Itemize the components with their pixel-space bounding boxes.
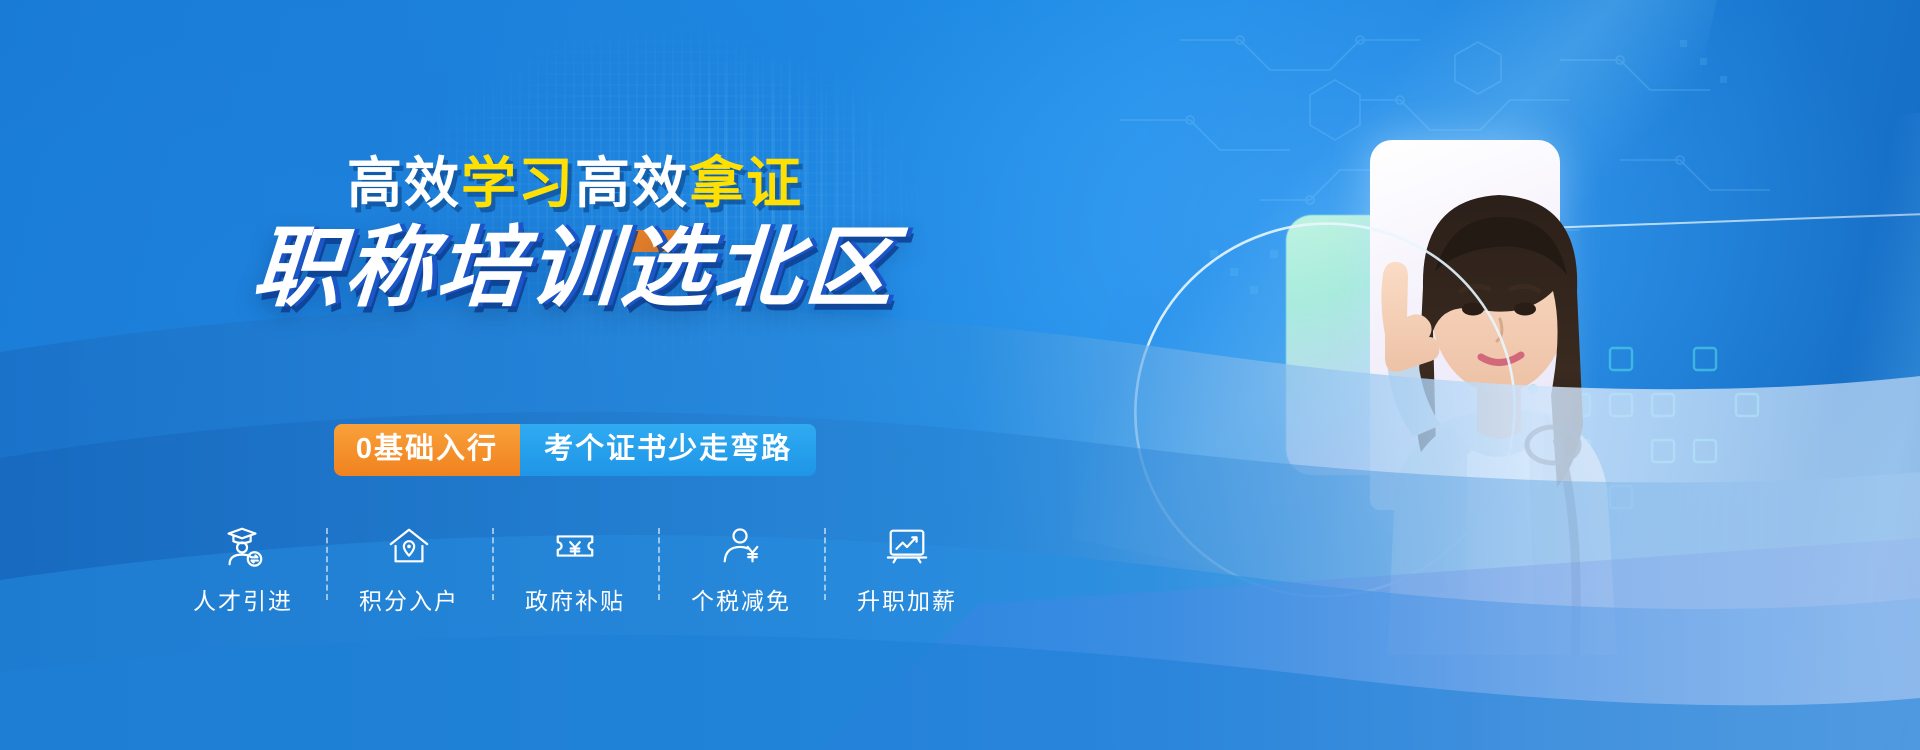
sub-headline-seg-4: 拿证: [689, 152, 803, 214]
main-headline: 职称培训选北区: [0, 224, 1153, 312]
sub-headline-seg-1: 高效: [347, 152, 461, 214]
feature-item-subsidy[interactable]: 政府补贴: [492, 522, 658, 616]
feature-list: 人才引进 积分入户: [0, 522, 1150, 616]
coupon-yuan-icon: [552, 522, 598, 570]
copy-block: 高效学习高效拿证 职称培训选北区 0基础入行 考个证书少走弯路: [0, 0, 1150, 750]
badge-left-label: 0基础入行: [334, 424, 520, 476]
person-yuan-icon: [718, 522, 764, 570]
feature-label: 积分入户: [359, 582, 459, 616]
tagline-badge: 0基础入行 考个证书少走弯路: [0, 424, 1150, 476]
main-headline-prefix: 职称培训: [250, 218, 625, 317]
feature-item-residence[interactable]: 积分入户: [326, 522, 492, 616]
main-headline-accent: 选: [618, 224, 716, 312]
main-headline-suffix: 北区: [710, 218, 901, 317]
feature-item-talent[interactable]: 人才引进: [160, 522, 326, 616]
feature-label: 人才引进: [193, 582, 293, 616]
sub-headline: 高效学习高效拿证: [0, 156, 1150, 211]
chart-board-icon: [884, 522, 930, 570]
feature-item-tax[interactable]: 个税减免: [658, 522, 824, 616]
feature-item-promotion[interactable]: 升职加薪: [824, 522, 990, 616]
sub-headline-seg-2: 学习: [461, 152, 575, 214]
house-pin-icon: [386, 522, 432, 570]
promo-banner: 高效学习高效拿证 职称培训选北区 0基础入行 考个证书少走弯路: [0, 0, 1920, 750]
feature-label: 政府补贴: [525, 582, 625, 616]
graduate-person-icon: [220, 522, 266, 570]
badge-right-label: 考个证书少走弯路: [520, 424, 816, 476]
feature-label: 个税减免: [691, 582, 791, 616]
feature-label: 升职加薪: [857, 582, 957, 616]
sub-headline-seg-3: 高效: [575, 152, 689, 214]
